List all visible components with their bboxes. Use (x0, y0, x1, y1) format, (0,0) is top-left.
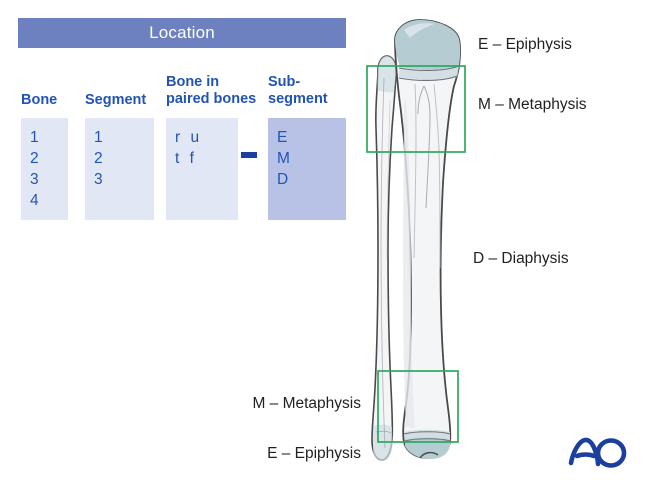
column-header-sub-segment: Sub- segment (268, 74, 360, 108)
separator-dash-icon (241, 152, 257, 158)
location-table: Location Bone Segment Bone in paired bon… (18, 18, 346, 220)
value-bone-3: 3 (30, 169, 68, 190)
value-segment-1: 1 (94, 127, 154, 148)
value-segment-3: 3 (94, 169, 154, 190)
label-distal-metaphysis: M – Metaphysis (161, 394, 361, 413)
value-paired-row-1: r u (175, 127, 238, 148)
value-box-bone: 1 2 3 4 (21, 118, 68, 220)
fibula-bone (372, 56, 396, 461)
ao-logo (568, 432, 630, 472)
column-header-bone: Bone (21, 92, 83, 109)
value-paired-row-2: t f (175, 148, 238, 169)
tibia-fibula-illustration (360, 8, 480, 486)
value-box-segment: 1 2 3 (85, 118, 154, 220)
value-bone-2: 2 (30, 148, 68, 169)
label-distal-epiphysis: E – Epiphysis (161, 444, 361, 463)
value-bone-4: 4 (30, 190, 68, 211)
label-diaphysis: D – Diaphysis (473, 249, 569, 268)
value-subsegment-m: M (277, 148, 346, 169)
value-box-sub-segment: E M D (268, 118, 346, 220)
location-title-bar: Location (18, 18, 346, 48)
value-segment-2: 2 (94, 148, 154, 169)
value-subsegment-e: E (277, 127, 346, 148)
value-subsegment-d: D (277, 169, 346, 190)
value-box-bone-in-paired-bones: r u t f (166, 118, 238, 220)
tibia-bone (395, 20, 460, 459)
column-header-segment: Segment (85, 92, 171, 109)
label-proximal-epiphysis: E – Epiphysis (478, 35, 572, 54)
value-bone-1: 1 (30, 127, 68, 148)
label-proximal-metaphysis: M – Metaphysis (478, 95, 587, 114)
column-header-bone-in-paired-bones: Bone in paired bones (166, 74, 280, 108)
